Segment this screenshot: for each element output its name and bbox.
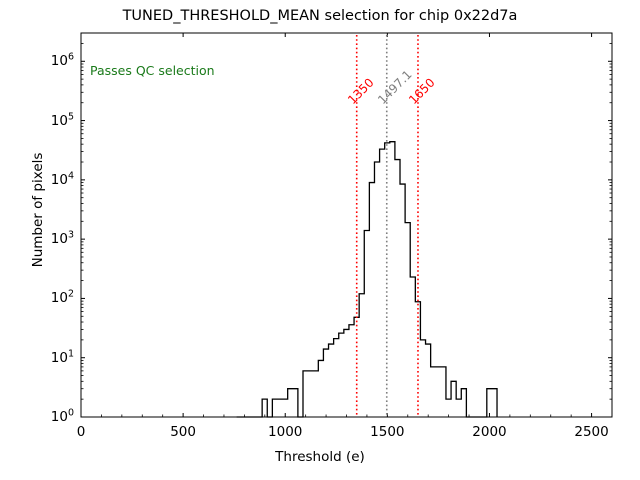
y-tick-label: 103 bbox=[18, 231, 74, 247]
y-tick-label: 102 bbox=[18, 290, 74, 306]
histogram-step-outline bbox=[237, 142, 497, 417]
y-tick-label: 101 bbox=[18, 350, 74, 366]
qc-status: Passes QC selection bbox=[90, 63, 215, 78]
x-tick-label: 1500 bbox=[370, 424, 404, 440]
x-tick-label: 2500 bbox=[574, 424, 608, 440]
x-tick-label: 0 bbox=[77, 424, 86, 440]
plot-frame bbox=[81, 33, 612, 417]
x-axis-label: Threshold (e) bbox=[0, 449, 640, 465]
y-tick-label: 100 bbox=[18, 409, 74, 425]
x-tick-label: 2000 bbox=[472, 424, 506, 440]
y-tick-label: 105 bbox=[18, 113, 74, 129]
y-tick-label: 104 bbox=[18, 172, 74, 188]
x-tick-label: 500 bbox=[170, 424, 196, 440]
figure-canvas: TUNED_THRESHOLD_MEAN selection for chip … bbox=[0, 0, 640, 480]
y-tick-label: 106 bbox=[18, 53, 74, 69]
x-tick-label: 1000 bbox=[268, 424, 302, 440]
